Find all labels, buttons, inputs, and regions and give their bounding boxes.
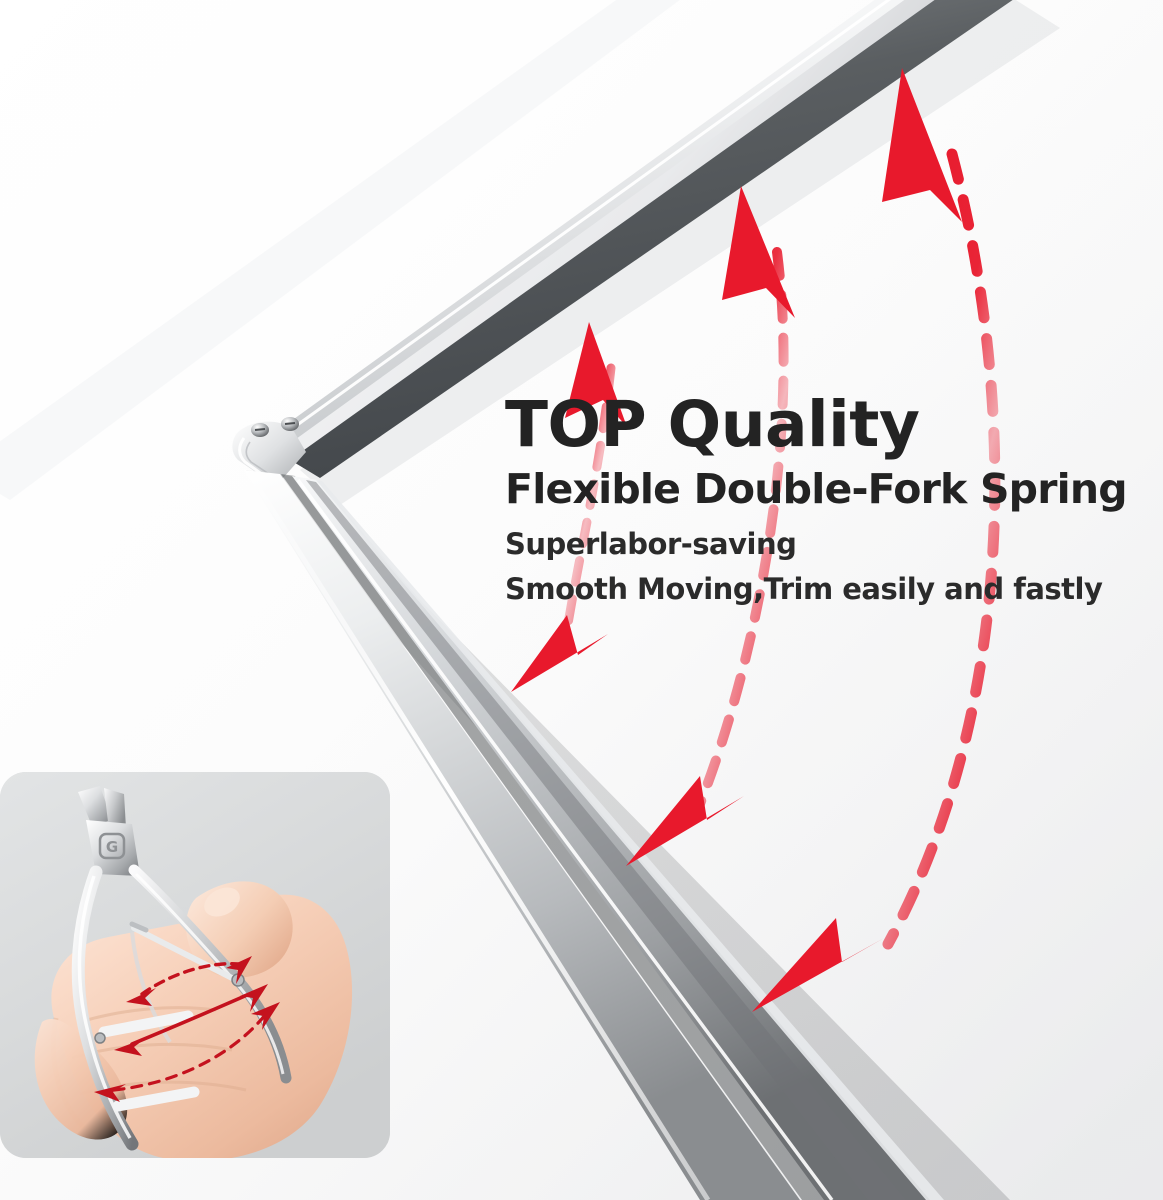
brand-logo-glyph: G: [106, 838, 118, 856]
inset-illustration: G: [0, 772, 390, 1158]
rivet-left-slot: [255, 429, 265, 430]
hand-holding-nipper-inset: G: [0, 772, 390, 1158]
rivet-right-slot: [285, 423, 295, 424]
product-feature-banner: TOP Quality Flexible Double-Fork Spring …: [0, 0, 1163, 1200]
inset-rivet-lower: [95, 1033, 105, 1043]
